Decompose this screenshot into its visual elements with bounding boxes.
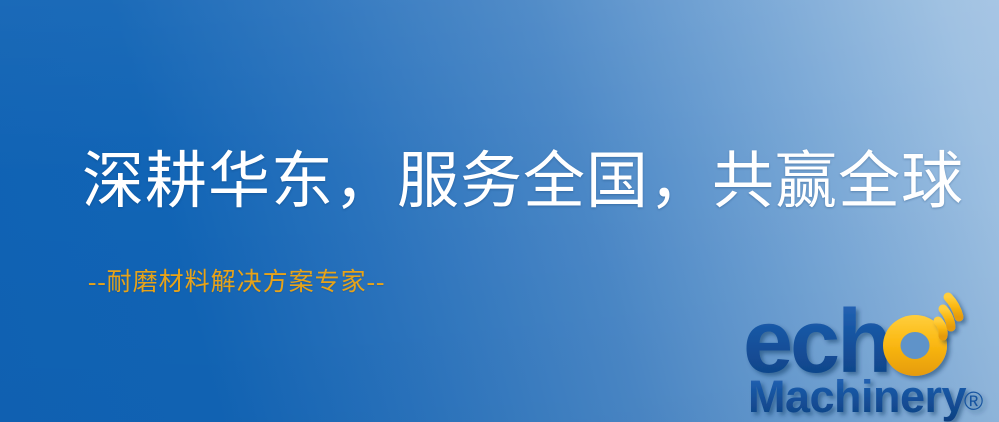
logo-wordmark-machinery: Machinery xyxy=(748,371,967,422)
hero-banner: 深耕华东，服务全国，共赢全球 --耐磨材料解决方案专家-- xyxy=(0,0,999,422)
signal-arc-1 xyxy=(938,321,943,336)
logo-o-counter xyxy=(901,332,930,359)
page-title: 深耕华东，服务全国，共赢全球 xyxy=(82,150,964,215)
logo-wordmark-machinery-glyphs: Machinery ® xyxy=(748,371,983,422)
signal-waves-icon xyxy=(938,297,959,336)
registered-trademark-mark: ® xyxy=(964,386,983,416)
echo-machinery-logo: ech Machinery ® xyxy=(742,288,999,422)
banner-subtitle: --耐磨材料解决方案专家-- xyxy=(88,268,385,298)
